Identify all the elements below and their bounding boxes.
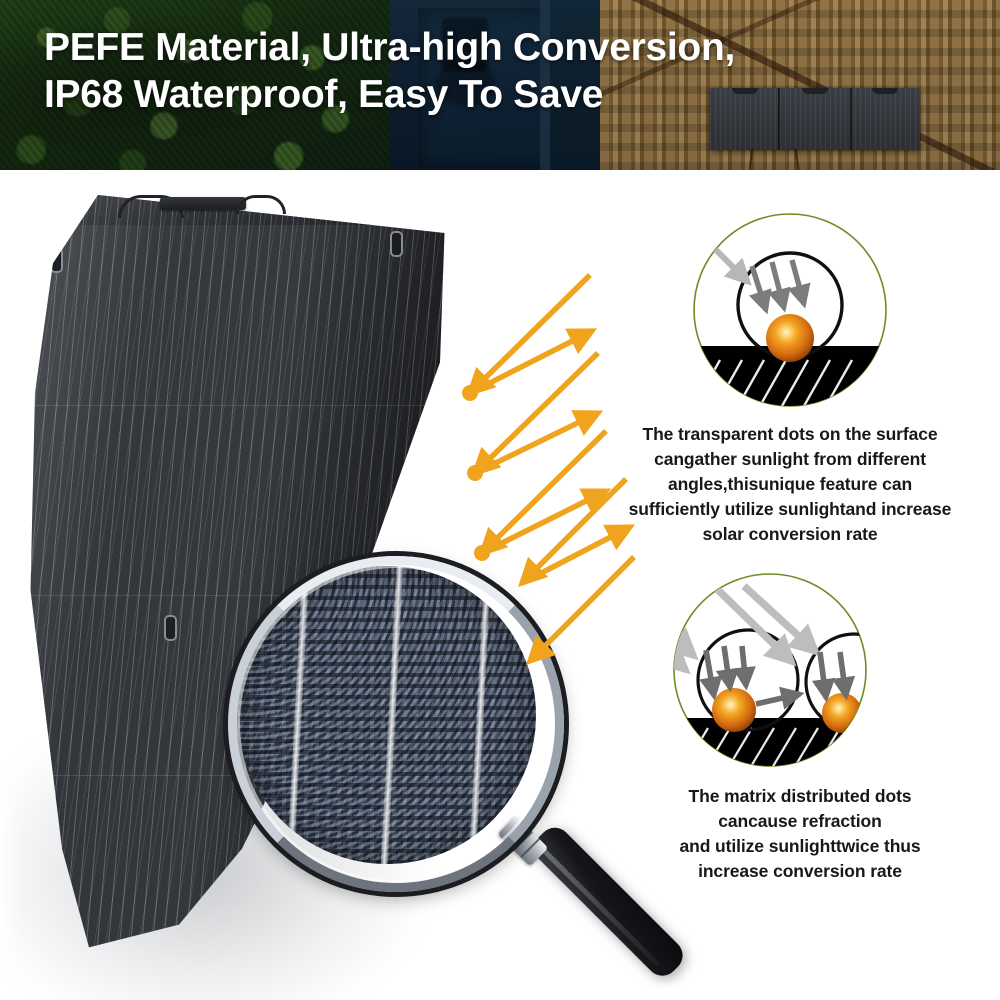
ray-contact-nodes: [462, 385, 490, 561]
feature-matrix-dots: The matrix distributed dots cancause ref…: [600, 570, 1000, 884]
header-banner: PEFE Material, Ultra-high Conversion, IP…: [0, 0, 1000, 170]
banner-title: PEFE Material, Ultra-high Conversion, IP…: [44, 24, 974, 118]
panel-grommet-top-left: [50, 247, 63, 273]
feature-transparent-dots: The transparent dots on the surface cang…: [580, 210, 1000, 547]
diagram-double-dome: [650, 570, 950, 770]
single-dome-svg: [690, 210, 890, 410]
feature-2-caption: The matrix distributed dots cancause ref…: [600, 784, 1000, 884]
panel-grommet-top-right: [390, 231, 403, 257]
diagram-single-dome: [690, 210, 890, 410]
panel-junction-box: [160, 197, 246, 210]
panel-cable-right: [236, 195, 286, 214]
double-dome-svg: [650, 570, 950, 770]
panel-grommet-left: [164, 615, 177, 641]
feature-1-caption: The transparent dots on the surface cang…: [580, 422, 1000, 547]
product-feature-page: PEFE Material, Ultra-high Conversion, IP…: [0, 0, 1000, 1000]
